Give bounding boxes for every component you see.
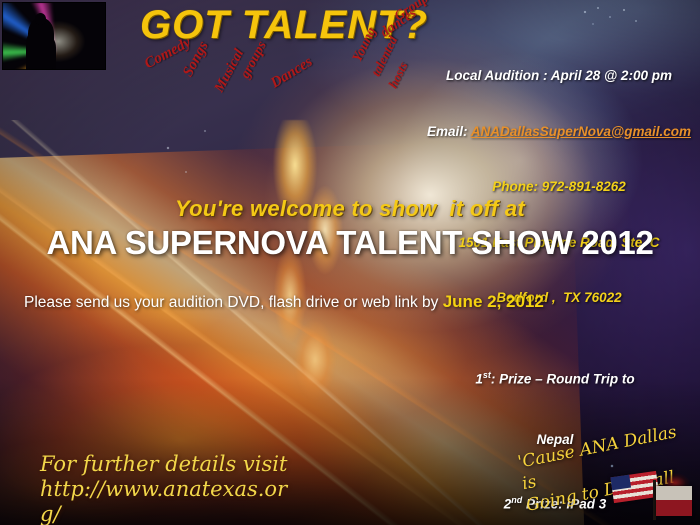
email-line: Email: ANADallasSuperNova@gmail.com [420,123,698,142]
deadline-date: June 2, 2012 [443,292,544,311]
website-info: For further details visit http://www.ana… [40,452,290,525]
prize-first-ordinal: 1 [475,372,483,387]
flags-group [612,472,698,522]
website-url[interactable]: http://www.anatexas.org/ [40,477,287,525]
deadline-text: Please send us your audition DVD, flash … [24,294,443,311]
main-headline: ANA SUPERNOVA TALENT SHOW 2012 [0,224,700,262]
prize-first: 1st: Prize – Round Trip to [440,365,670,390]
prize-first-text: : Prize – Round Trip to [491,372,635,387]
texas-flag-icon [656,486,692,516]
prize-second-suffix: nd [511,495,522,505]
submission-deadline: Please send us your audition DVD, flash … [24,292,544,312]
audition-info: Local Audition : April 28 @ 2:00 pm [420,67,698,86]
talent-show-poster: GOT TALENT? Comedy Songs Musical groups … [0,0,700,525]
welcome-line: You're welcome to show it off at [0,196,700,222]
prize-first-suffix: st [483,370,491,380]
phone-line: Phone: 972-891-8262 [420,178,698,197]
dancer-photo-frame [2,2,106,70]
dancer-photo [2,2,106,70]
website-label: For further details visit [40,452,287,476]
email-label: Email: [427,124,471,139]
email-address[interactable]: ANADallasSuperNova@gmail.com [471,124,691,139]
